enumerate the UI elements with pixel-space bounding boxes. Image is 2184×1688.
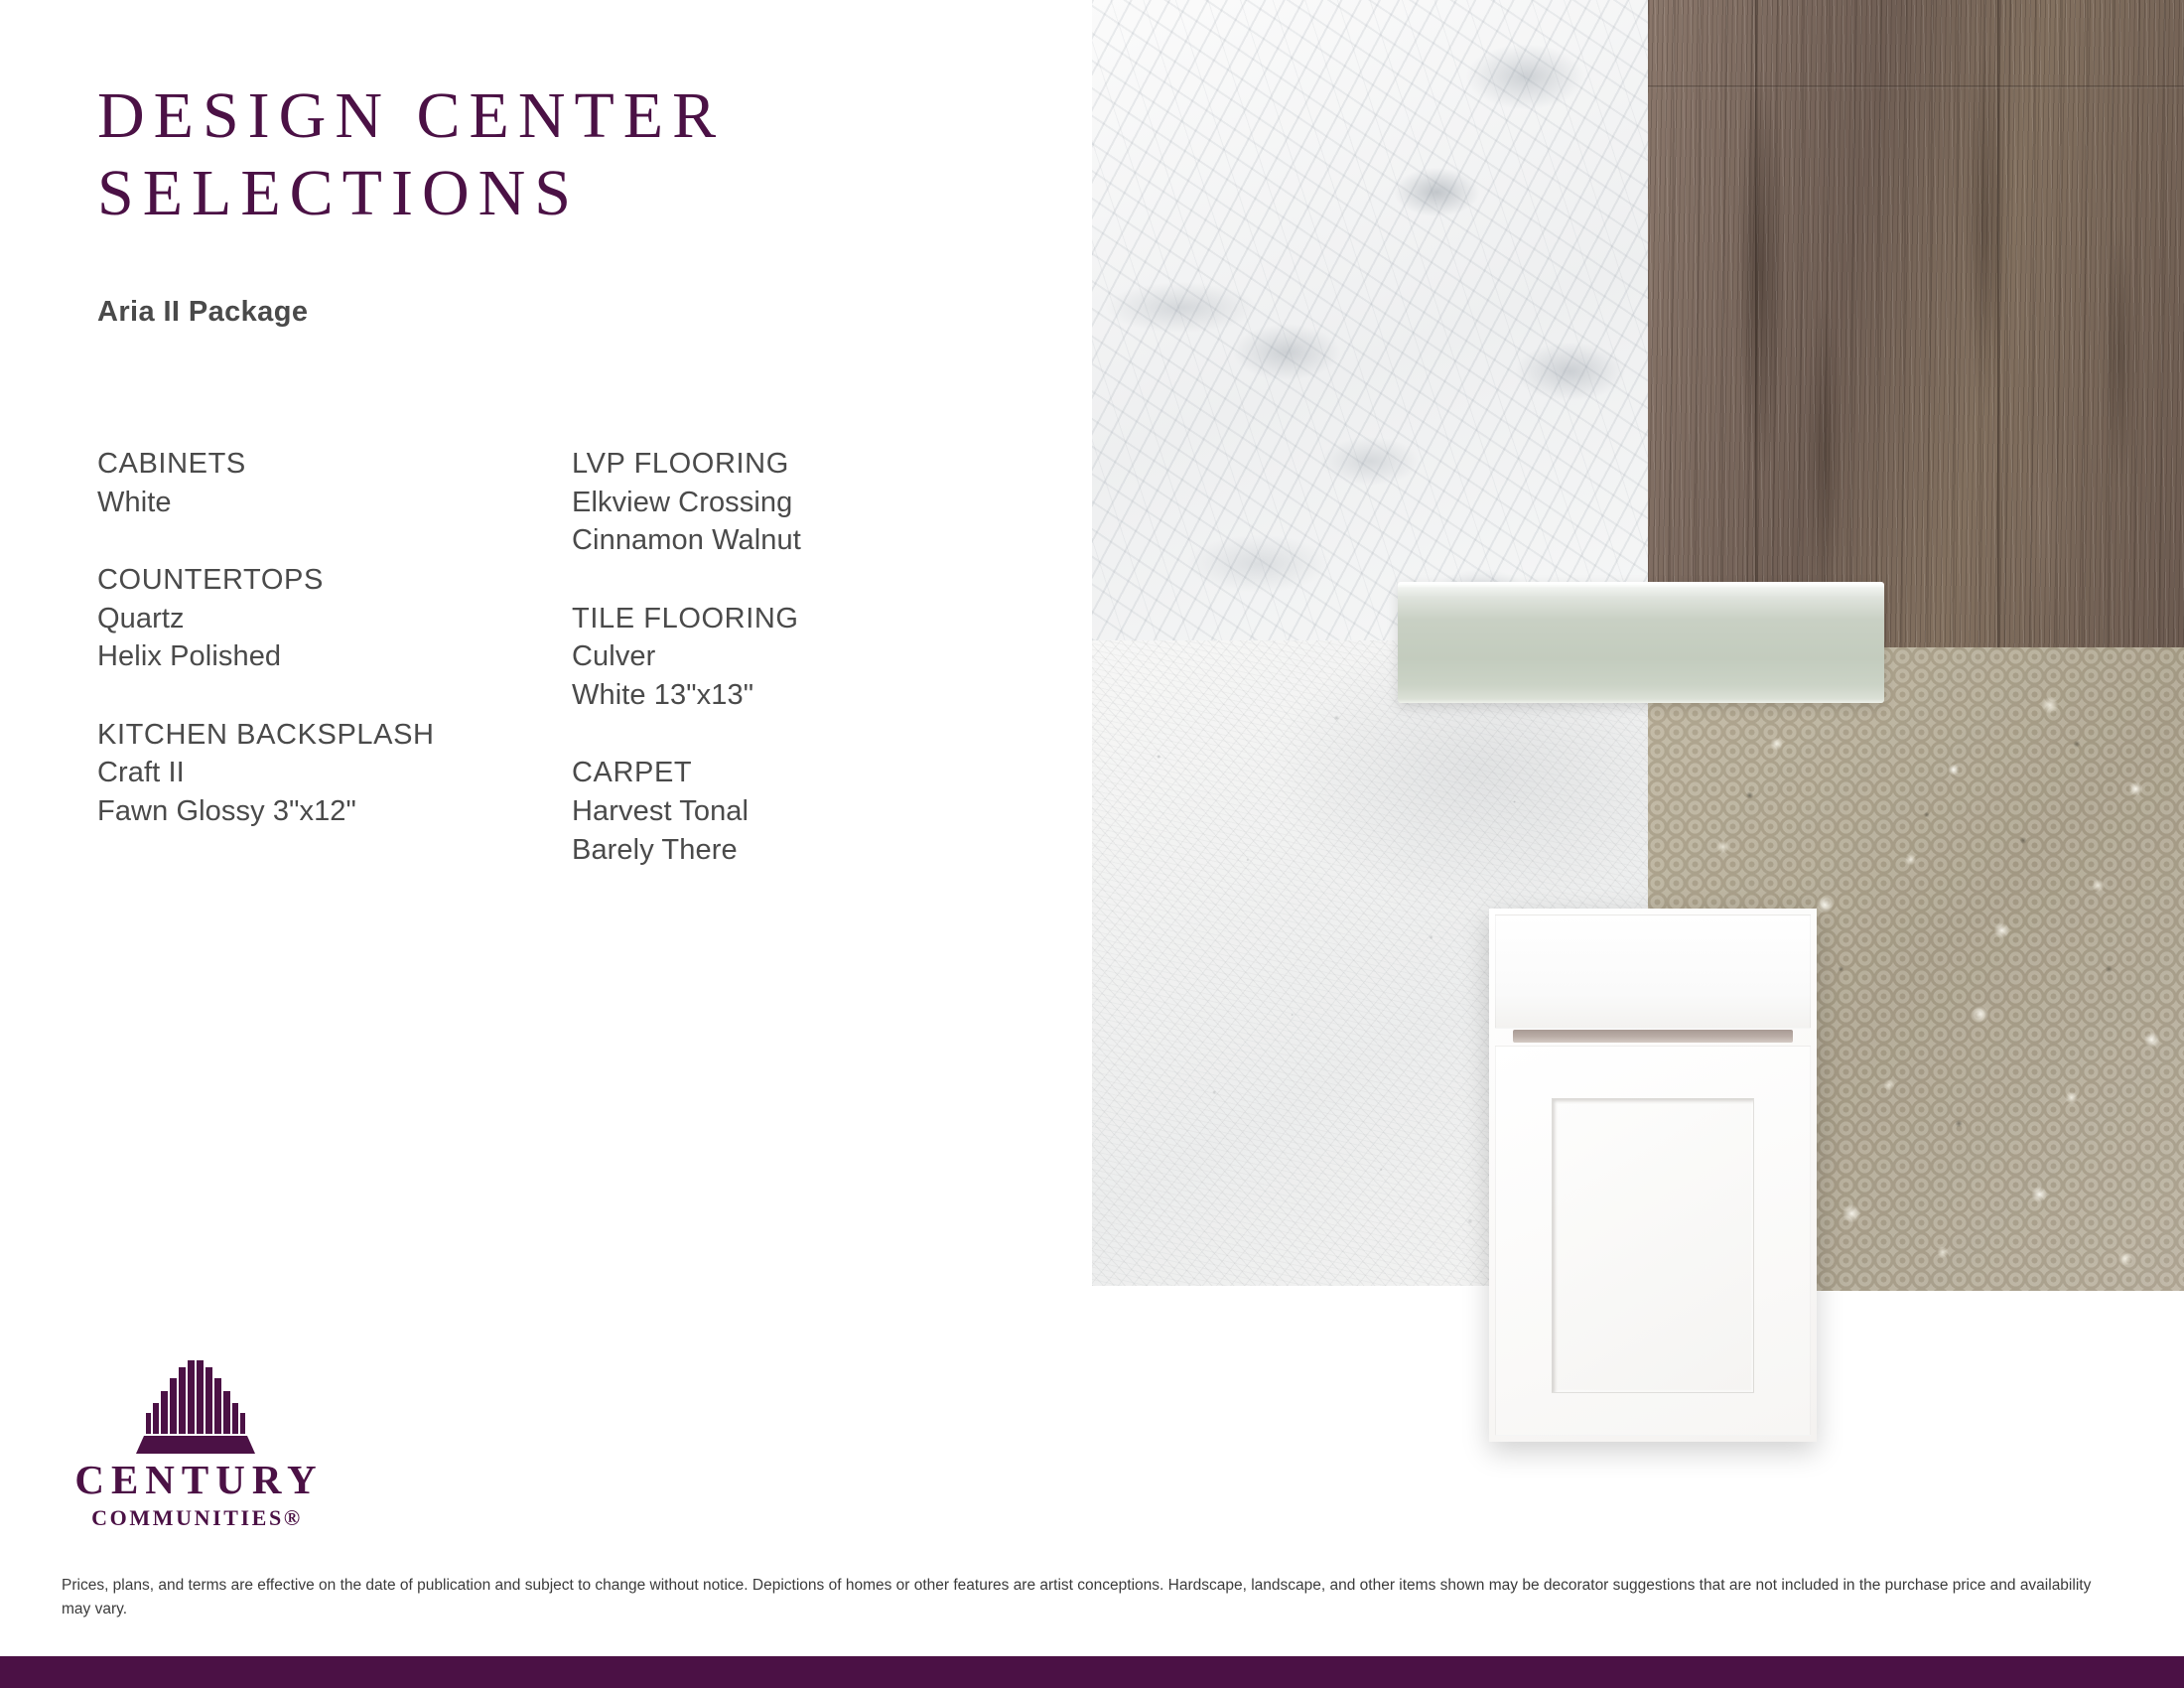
cabinet-recessed-panel: [1552, 1098, 1754, 1393]
century-communities-logo: CENTURY COMMUNITIES®: [62, 1358, 330, 1529]
page-title: DESIGN CENTER SELECTIONS: [97, 77, 991, 232]
logo-tagline: COMMUNITIES®: [62, 1507, 330, 1529]
selection-group-countertops: COUNTERTOPS Quartz Helix Polished: [97, 561, 534, 676]
selection-group-cabinets: CABINETS White: [97, 445, 534, 521]
quartz-countertop-swatch: [1092, 0, 1648, 640]
selection-value: Barely There: [572, 831, 989, 870]
selections-column-right: LVP FLOORING Elkview Crossing Cinnamon W…: [572, 445, 989, 869]
cabinet-shadow-gap: [1513, 1030, 1793, 1043]
cabinet-drawer-front: [1495, 914, 1811, 1029]
selection-label: LVP FLOORING: [572, 445, 989, 484]
building-tower-icon: [126, 1358, 265, 1454]
selection-label: CABINETS: [97, 445, 534, 484]
lvp-wood-flooring-swatch: [1648, 0, 2184, 647]
selection-value: Craft II: [97, 754, 534, 792]
tile-sheen-highlight: [1398, 586, 1884, 620]
left-content-panel: DESIGN CENTER SELECTIONS Aria II Package…: [0, 0, 1092, 1688]
backsplash-tile-swatch: [1398, 582, 1884, 703]
logo-wordmark: CENTURY: [62, 1460, 330, 1500]
selection-value: Culver: [572, 637, 989, 676]
legal-disclaimer: Prices, plans, and terms are effective o…: [62, 1574, 2116, 1621]
package-name: Aria II Package: [97, 296, 308, 329]
selection-value: Fawn Glossy 3"x12": [97, 792, 534, 831]
selection-value: Elkview Crossing: [572, 484, 989, 522]
selection-value: Harvest Tonal: [572, 792, 989, 831]
selection-group-lvp-flooring: LVP FLOORING Elkview Crossing Cinnamon W…: [572, 445, 989, 560]
selection-group-carpet: CARPET Harvest Tonal Barely There: [572, 754, 989, 869]
selection-value: Quartz: [97, 600, 534, 638]
selection-group-tile-flooring: TILE FLOORING Culver White 13"x13": [572, 600, 989, 715]
cabinet-door-swatch: [1489, 909, 1817, 1442]
bottom-accent-bar: [0, 1656, 2184, 1688]
selections-column-left: CABINETS White COUNTERTOPS Quartz Helix …: [97, 445, 534, 831]
selection-value: Cinnamon Walnut: [572, 521, 989, 560]
selection-label: COUNTERTOPS: [97, 561, 534, 600]
selection-value: White: [97, 484, 534, 522]
selection-label: CARPET: [572, 754, 989, 792]
selection-group-kitchen-backsplash: KITCHEN BACKSPLASH Craft II Fawn Glossy …: [97, 716, 534, 831]
cabinet-door-face: [1495, 1046, 1811, 1436]
selection-value: White 13"x13": [572, 676, 989, 715]
selection-label: TILE FLOORING: [572, 600, 989, 638]
selection-value: Helix Polished: [97, 637, 534, 676]
selection-label: KITCHEN BACKSPLASH: [97, 716, 534, 755]
